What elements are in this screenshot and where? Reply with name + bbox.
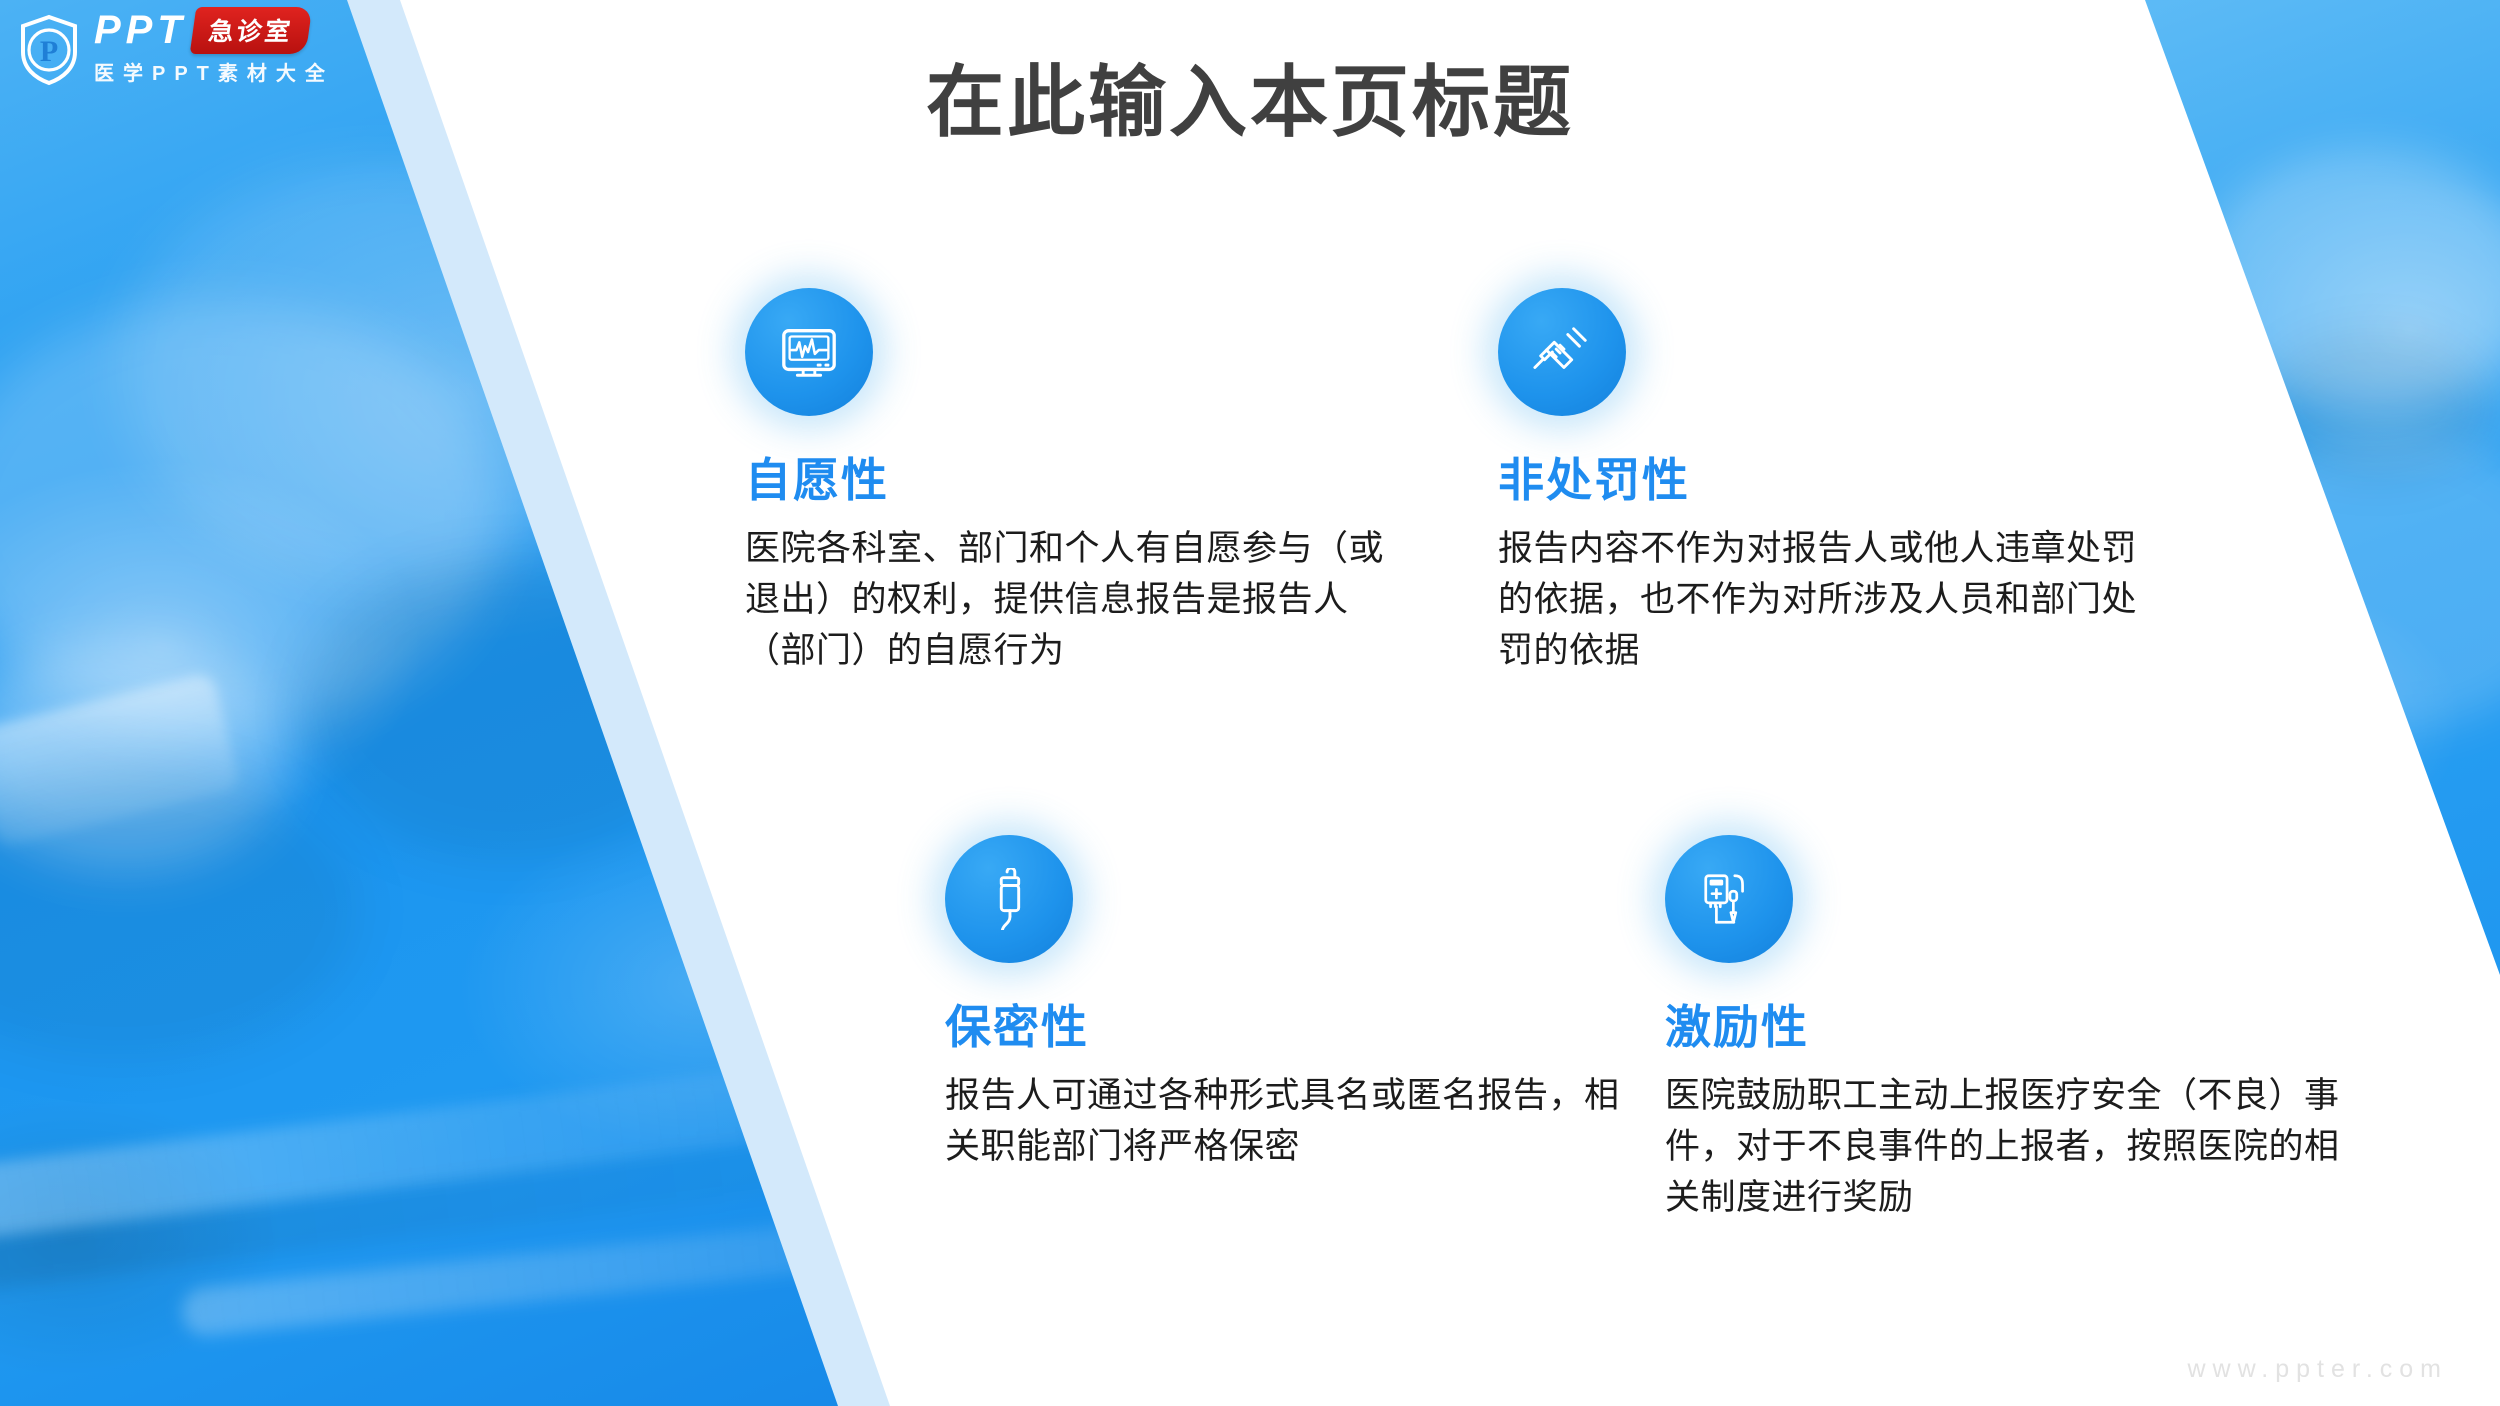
brand-logo[interactable]: P PPT 急诊室 医学PPT素材大全 [18,8,334,86]
card-title: 保密性 [945,991,1645,1057]
card-body: 报告内容不作为对报告人或他人违章处罚的依据，也不作为对所涉及人员和部门处罚的依据 [1498,524,2158,676]
feature-card-incentive[interactable]: 激励性 医院鼓励职工主动上报医疗安全（不良）事件，对于不良事件的上报者，按照医院… [1665,835,2365,1223]
ecg-monitor-icon [745,288,873,416]
infusion-pump-icon [1665,835,1793,963]
card-title: 自愿性 [745,444,1405,510]
feature-card-non-punitive[interactable]: 非处罚性 报告内容不作为对报告人或他人违章处罚的依据，也不作为对所涉及人员和部门… [1498,288,2158,676]
card-body: 医院鼓励职工主动上报医疗安全（不良）事件，对于不良事件的上报者，按照医院的相关制… [1665,1071,2365,1223]
syringe-icon [1498,288,1626,416]
logo-badge: 急诊室 [189,7,312,54]
card-title: 非处罚性 [1498,444,2158,510]
card-title: 激励性 [1665,991,2365,1057]
svg-text:P: P [40,35,58,68]
page-title: 在此输入本页标题 [0,40,2500,152]
feature-card-confidentiality[interactable]: 保密性 报告人可通过各种形式具名或匿名报告，相关职能部门将严格保密 [945,835,1645,1173]
card-body: 医院各科室、部门和个人有自愿参与（或退出）的权利，提供信息报告是报告人（部门）的… [745,524,1405,676]
slide-canvas: P PPT 急诊室 医学PPT素材大全 在此输入本页标题 [0,0,2500,1406]
shield-icon: P [18,14,80,86]
logo-ppt-text: PPT [94,8,187,52]
iv-drip-bag-icon [945,835,1073,963]
footer-website-url: www.ppter.com [2187,1355,2448,1384]
feature-card-voluntariness[interactable]: 自愿性 医院各科室、部门和个人有自愿参与（或退出）的权利，提供信息报告是报告人（… [745,288,1405,676]
feature-card-grid: 自愿性 医院各科室、部门和个人有自愿参与（或退出）的权利，提供信息报告是报告人（… [0,0,2500,1406]
card-body: 报告人可通过各种形式具名或匿名报告，相关职能部门将严格保密 [945,1071,1645,1173]
logo-subtitle: 医学PPT素材大全 [94,57,334,86]
